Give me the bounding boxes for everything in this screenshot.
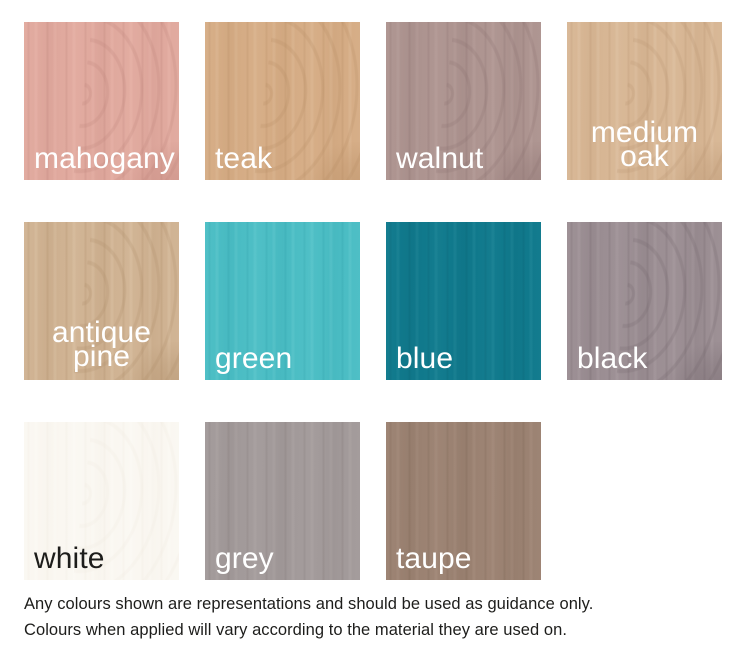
swatch-label-medium-oak: medium oak (567, 121, 722, 180)
swatch-label-walnut: walnut (386, 144, 483, 180)
disclaimer-line-2: Colours when applied will vary according… (24, 618, 730, 644)
colour-swatch-walnut[interactable]: walnut (386, 22, 541, 180)
disclaimer-line-1: Any colours shown are representations an… (24, 592, 730, 618)
disclaimer-footnote: Any colours shown are representations an… (24, 592, 730, 643)
colour-swatch-green[interactable]: green (205, 222, 360, 380)
colour-swatch-grid: mahoganyteakwalnutmedium oakantique pine… (24, 22, 724, 580)
colour-swatch-medium-oak[interactable]: medium oak (567, 22, 722, 180)
colour-chart-page: mahoganyteakwalnutmedium oakantique pine… (0, 0, 748, 666)
swatch-label-white: white (24, 544, 105, 580)
colour-swatch-black[interactable]: black (567, 222, 722, 380)
swatch-label-taupe: taupe (386, 544, 472, 580)
colour-swatch-blue[interactable]: blue (386, 222, 541, 380)
swatch-label-teak: teak (205, 144, 272, 180)
colour-swatch-teak[interactable]: teak (205, 22, 360, 180)
swatch-label-black: black (567, 344, 648, 380)
colour-swatch-taupe[interactable]: taupe (386, 422, 541, 580)
swatch-empty-slot (567, 422, 722, 580)
swatch-label-green: green (205, 344, 292, 380)
swatch-label-grey: grey (205, 544, 274, 580)
swatch-label-antique-pine: antique pine (24, 321, 179, 380)
swatch-label-mahogany: mahogany (24, 144, 175, 180)
colour-swatch-white[interactable]: white (24, 422, 179, 580)
colour-swatch-antique-pine[interactable]: antique pine (24, 222, 179, 380)
swatch-label-blue: blue (386, 344, 453, 380)
colour-swatch-mahogany[interactable]: mahogany (24, 22, 179, 180)
colour-swatch-grey[interactable]: grey (205, 422, 360, 580)
